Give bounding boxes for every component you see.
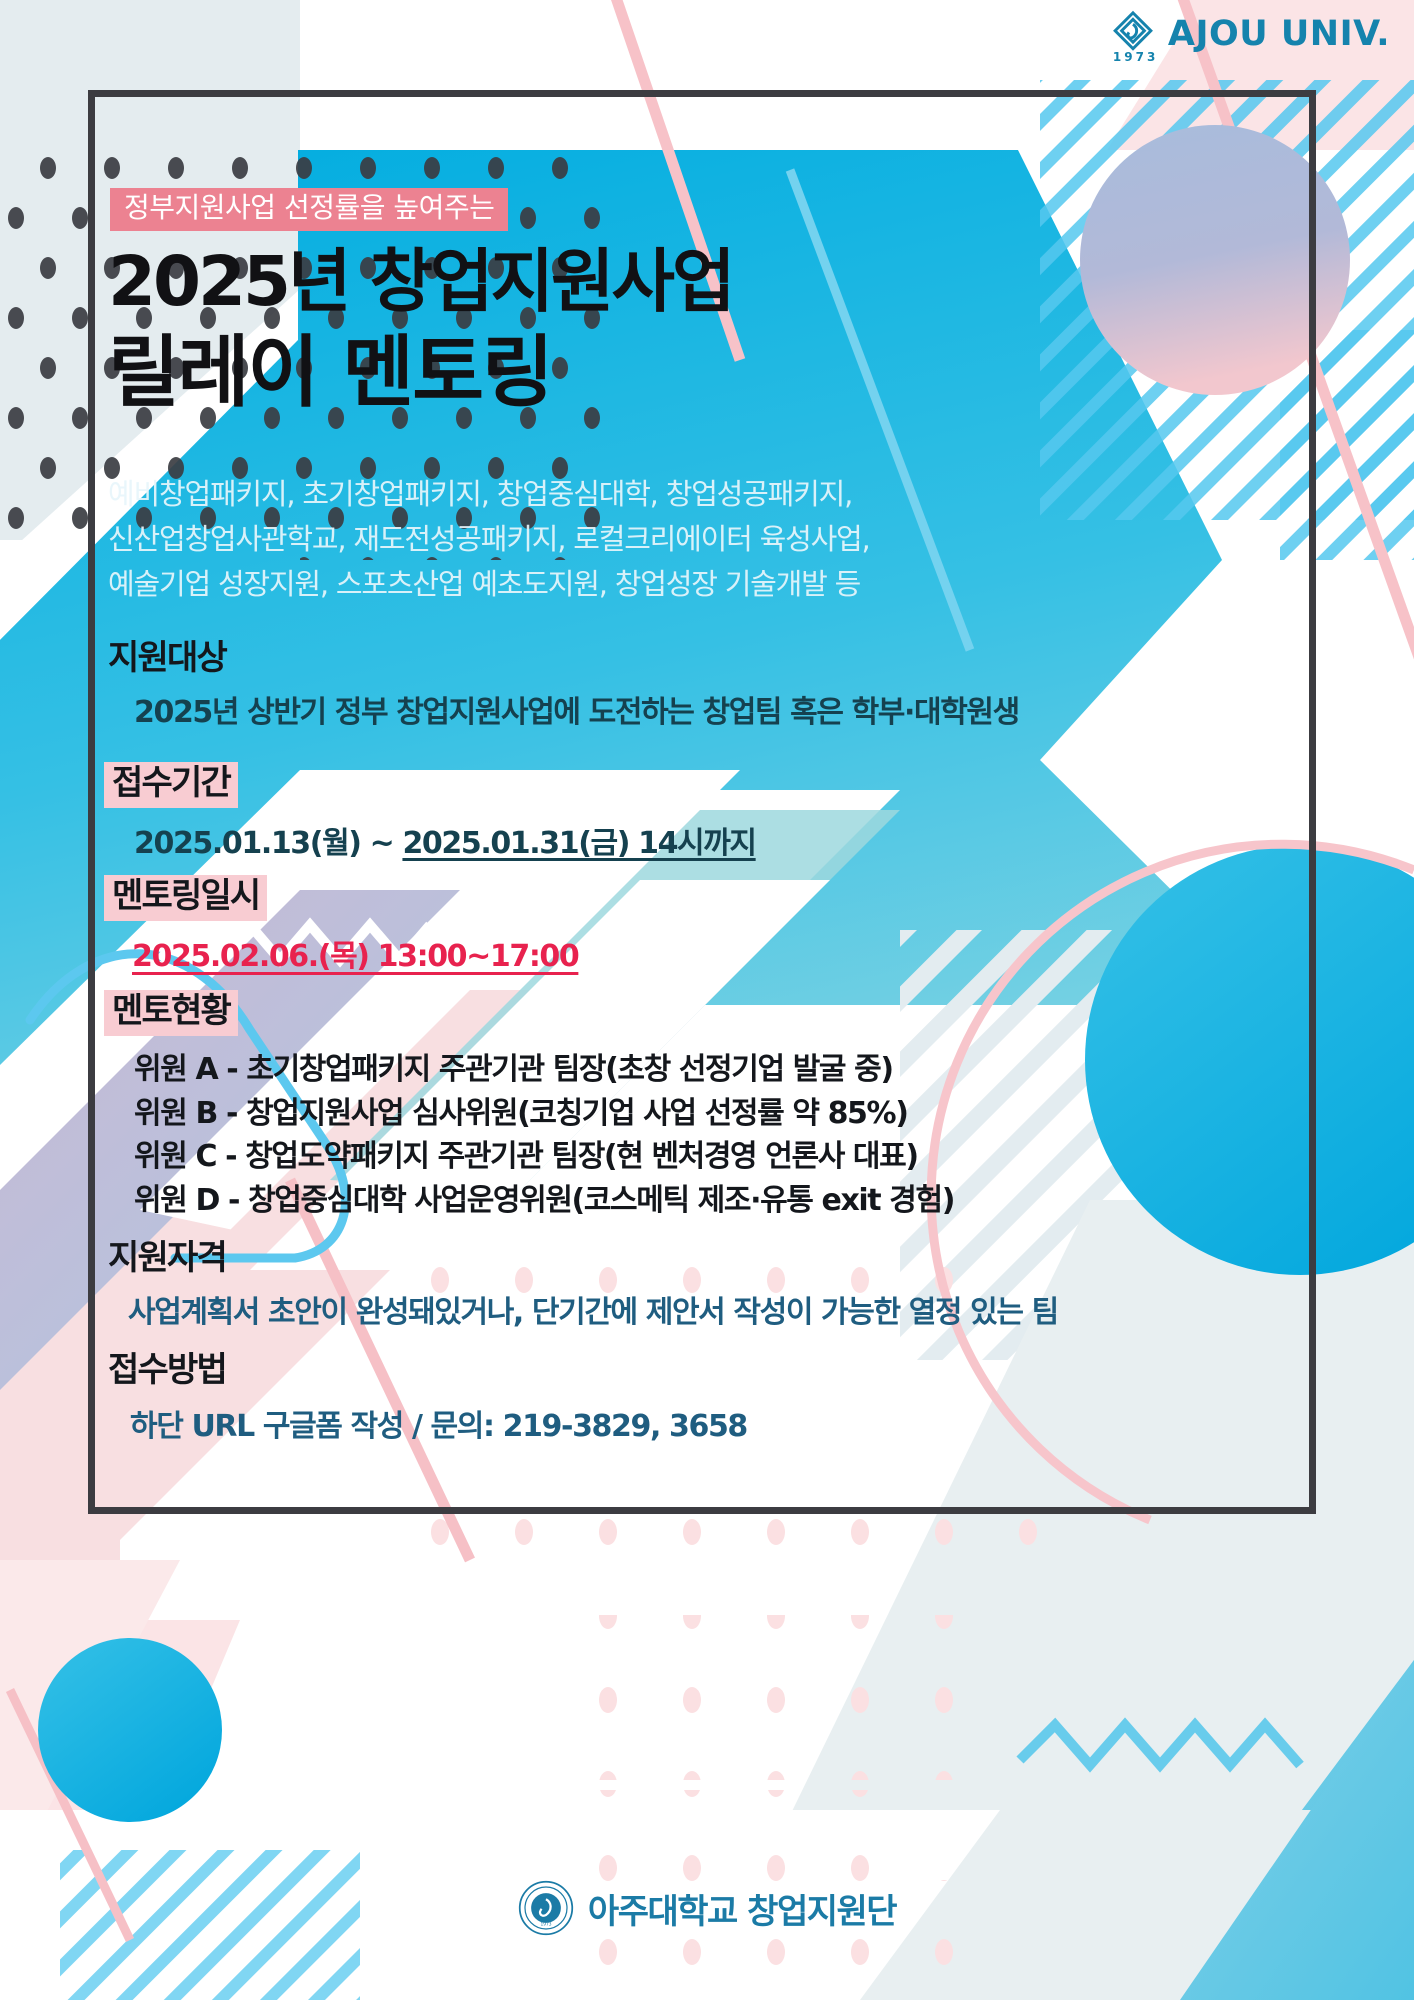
section-application-period: 접수기간 2025.01.13(월) ~ 2025.01.31(금) 14시까지 bbox=[0, 762, 1414, 866]
section-qualification-body: 사업계획서 초안이 완성돼있거나, 단기간에 제안서 작성이 가능한 열정 있는… bbox=[128, 1291, 1414, 1335]
mentor-item: 위원 C - 창업도약패키지 주관기관 팀장(현 벤처경영 언론사 대표) bbox=[134, 1135, 1414, 1179]
section-how-to-apply-body: 하단 URL 구글폼 작성 / 문의: 219-3829, 3658 bbox=[130, 1405, 1414, 1449]
ajou-seal-icon: 1973 bbox=[518, 1880, 574, 1936]
mentor-item: 위원 D - 창업중심대학 사업운영위원(코스메틱 제조·유통 exit 경험) bbox=[134, 1179, 1414, 1223]
footer-org-name: 아주대학교 창업지원단 bbox=[588, 1884, 896, 1933]
section-mentoring-date-body: 2025.02.06.(목) 13:00~17:00 bbox=[132, 935, 1414, 979]
application-period-start: 2025.01.13(월) ~ bbox=[134, 826, 402, 861]
title-line-1: 2025년 창업지원사업 bbox=[108, 242, 732, 322]
section-mentors-heading: 멘토현황 bbox=[104, 990, 238, 1036]
program-list-line-3: 예술기업 성장지원, 스포츠산업 예초도지원, 창업성장 기술개발 등 bbox=[108, 562, 1168, 607]
eyebrow-label: 정부지원사업 선정률을 높여주는 bbox=[110, 188, 508, 231]
program-list-line-2: 신산업창업사관학교, 재도전성공패키지, 로컬크리에이터 육성사업, bbox=[108, 517, 1168, 562]
section-mentoring-date-heading: 멘토링일시 bbox=[104, 875, 267, 921]
section-mentors: 멘토현황 위원 A - 초기창업패키지 주관기관 팀장(초창 선정기업 발굴 중… bbox=[0, 990, 1414, 1222]
page-title: 2025년 창업지원사업 릴레이 멘토링 bbox=[108, 242, 732, 419]
seal-year: 1973 bbox=[540, 1922, 551, 1928]
poster: 1973 AJOU UNIV. 정부지원사업 선정률을 높여주는 2025년 창… bbox=[0, 0, 1414, 2000]
title-line-2: 릴레이 멘토링 bbox=[108, 327, 732, 419]
poster-content: 정부지원사업 선정률을 높여주는 2025년 창업지원사업 릴레이 멘토링 예비… bbox=[0, 0, 1414, 2000]
section-target-heading: 지원대상 bbox=[108, 640, 226, 677]
application-period-deadline: 2025.01.31(금) 14시까지 bbox=[402, 826, 755, 861]
footer: 1973 아주대학교 창업지원단 bbox=[0, 1880, 1414, 1936]
section-qualification-heading: 지원자격 bbox=[108, 1240, 226, 1277]
mentor-item: 위원 B - 창업지원사업 심사위원(코칭기업 사업 선정률 약 85%) bbox=[134, 1092, 1414, 1136]
section-target: 지원대상 2025년 상반기 정부 창업지원사업에 도전하는 창업팀 혹은 학부… bbox=[0, 640, 1414, 735]
section-application-period-heading: 접수기간 bbox=[104, 762, 238, 808]
program-list: 예비창업패키지, 초기창업패키지, 창업중심대학, 창업성공패키지, 신산업창업… bbox=[108, 472, 1168, 607]
section-how-to-apply: 접수방법 하단 URL 구글폼 작성 / 문의: 219-3829, 3658 bbox=[0, 1352, 1414, 1449]
section-application-period-body: 2025.01.13(월) ~ 2025.01.31(금) 14시까지 bbox=[134, 822, 1414, 866]
section-mentoring-date: 멘토링일시 2025.02.06.(목) 13:00~17:00 bbox=[0, 875, 1414, 979]
section-how-to-apply-heading: 접수방법 bbox=[108, 1352, 226, 1389]
section-qualification: 지원자격 사업계획서 초안이 완성돼있거나, 단기간에 제안서 작성이 가능한 … bbox=[0, 1240, 1414, 1335]
program-list-line-1: 예비창업패키지, 초기창업패키지, 창업중심대학, 창업성공패키지, bbox=[108, 472, 1168, 517]
mentor-item: 위원 A - 초기창업패키지 주관기관 팀장(초창 선정기업 발굴 중) bbox=[134, 1048, 1414, 1092]
section-target-body: 2025년 상반기 정부 창업지원사업에 도전하는 창업팀 혹은 학부·대학원생 bbox=[134, 691, 1414, 735]
